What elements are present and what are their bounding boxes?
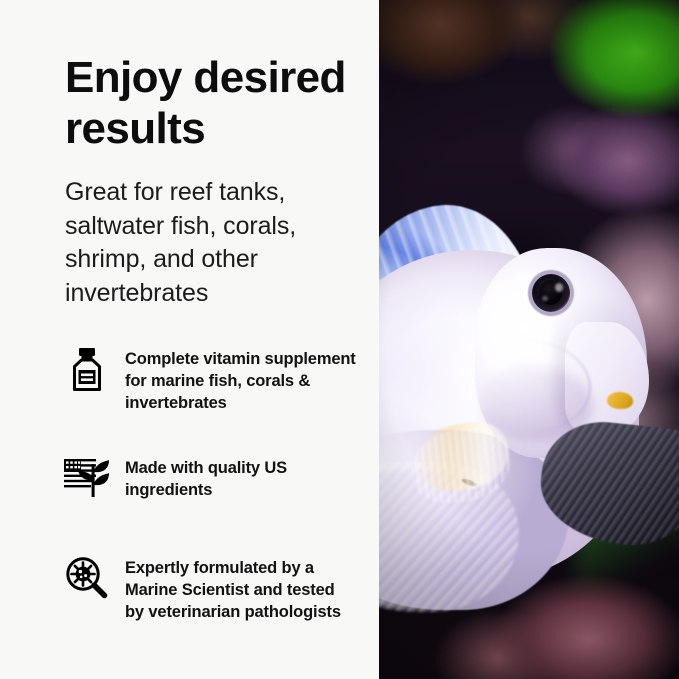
feature-item-label: Expertly formulated by a Marine Scientis… bbox=[125, 555, 357, 624]
text-panel: Enjoy desired results Great for reef tan… bbox=[0, 0, 379, 679]
fish-lip bbox=[607, 392, 633, 409]
product-feature-card: Enjoy desired results Great for reef tan… bbox=[0, 0, 679, 679]
feature-item-label: Made with quality US ingredients bbox=[125, 455, 357, 502]
feature-item-us-ingredients: Made with quality US ingredients bbox=[61, 455, 361, 507]
feature-item-label: Complete vitamin supplement for marine f… bbox=[125, 346, 357, 415]
magnifier-microbe-icon bbox=[61, 555, 113, 607]
eye-highlight-secondary bbox=[542, 296, 548, 301]
us-flag-plant-icon bbox=[61, 455, 113, 507]
subtitle: Great for reef tanks, saltwater fish, co… bbox=[65, 176, 365, 310]
feature-item-vitamin-supplement: Complete vitamin supplement for marine f… bbox=[61, 346, 361, 415]
reef-scene bbox=[379, 0, 679, 679]
supplement-bottle-icon bbox=[61, 346, 113, 398]
feature-item-expert-formulated: Expertly formulated by a Marine Scientis… bbox=[61, 555, 361, 624]
eye-highlight bbox=[555, 283, 563, 292]
product-photo bbox=[379, 0, 679, 679]
tang-fish bbox=[379, 0, 679, 679]
page-title: Enjoy desired results bbox=[65, 52, 370, 154]
